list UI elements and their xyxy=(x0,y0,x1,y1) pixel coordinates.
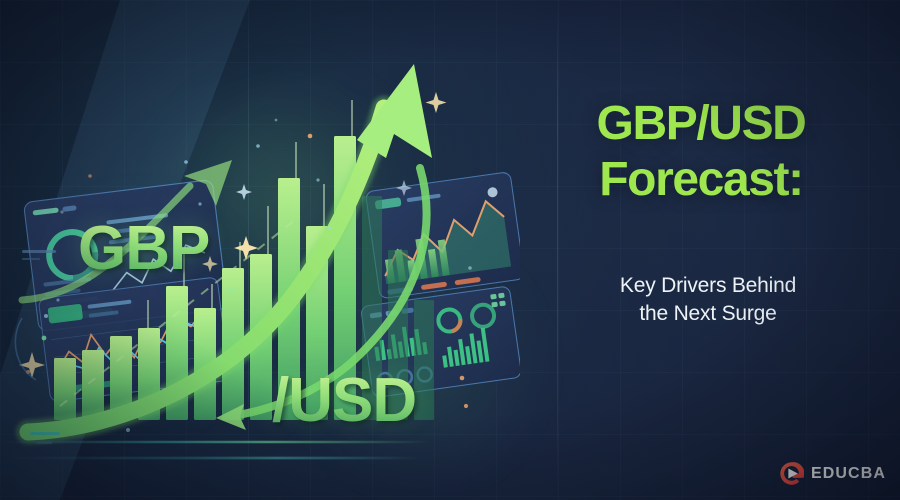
headline-line-2: Forecast: xyxy=(520,156,882,203)
subheadline-line-2: the Next Surge xyxy=(534,300,882,328)
subheadline: Key Drivers Behind the Next Surge xyxy=(534,272,882,327)
educba-logo-icon xyxy=(779,461,804,486)
headline-line-1: GBP/USD xyxy=(520,100,882,147)
word-gbp: GBP xyxy=(78,218,209,280)
educba-logo-text: EDUCBA xyxy=(811,465,886,483)
text-panel: GBP/USD Forecast: Key Drivers Behind the… xyxy=(520,0,900,500)
hero-illustration: GBP GBP /USD /USD xyxy=(0,0,520,500)
banner: GBP GBP /USD /USD GBP/USD Forecast: Key … xyxy=(0,0,900,500)
subheadline-line-1: Key Drivers Behind xyxy=(534,272,882,300)
educba-logo[interactable]: EDUCBA xyxy=(779,461,886,486)
word-usd: /USD xyxy=(272,370,416,432)
